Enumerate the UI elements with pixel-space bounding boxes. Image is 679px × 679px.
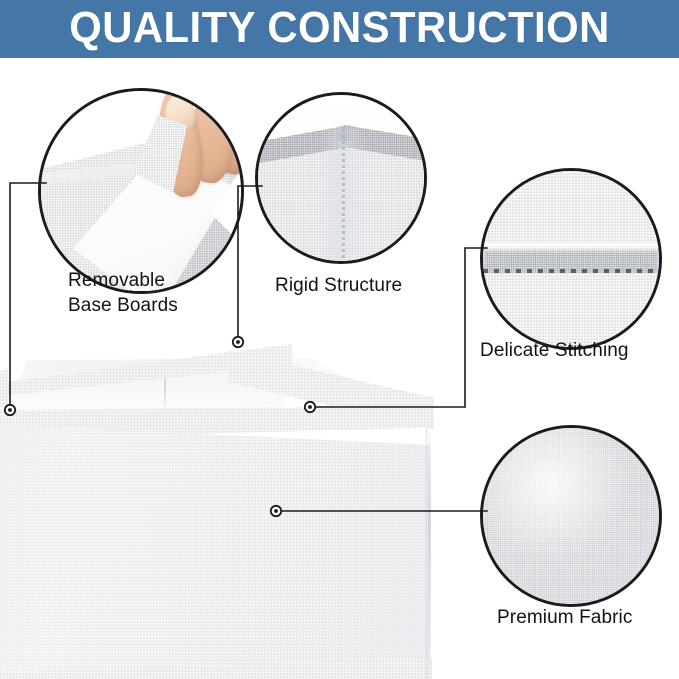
callout-label-premium-fabric: Premium Fabric	[497, 605, 632, 630]
fabric-sheen	[483, 428, 659, 604]
bin-corner-crease	[426, 428, 427, 679]
callout-label-removable-base-boards: Removable Base Boards	[68, 268, 178, 318]
callout-label-rigid-structure: Rigid Structure	[275, 273, 402, 298]
fabric-below-seam	[483, 273, 659, 347]
callout-image-rigid-structure	[255, 92, 427, 264]
corner-apex	[332, 121, 354, 141]
storage-bin	[0, 328, 440, 679]
callout-image-premium-fabric	[480, 425, 662, 607]
bin-right-edge	[428, 416, 431, 679]
bin-front-shading	[0, 421, 430, 679]
stitch-row	[483, 269, 659, 273]
callout-image-removable-base-boards	[38, 88, 244, 294]
infographic-canvas: QUALITY CONSTRUCTION	[0, 0, 679, 679]
page-title: QUALITY CONSTRUCTION	[69, 6, 610, 52]
callout-image-delicate-stitching	[480, 168, 662, 350]
header-banner: QUALITY CONSTRUCTION	[0, 0, 679, 58]
corner-seam-stitch	[342, 129, 345, 264]
callout-label-delicate-stitching: Delicate Stitching	[480, 338, 629, 363]
fabric-above-seam	[483, 171, 659, 252]
bin-front-panel	[0, 421, 430, 679]
